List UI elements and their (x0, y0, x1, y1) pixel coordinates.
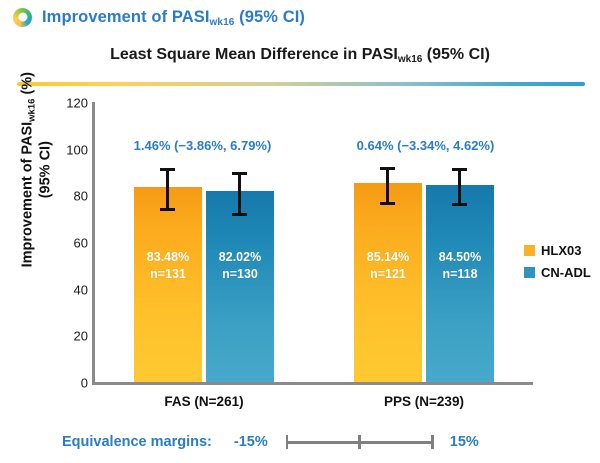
legend-label: HLX03 (541, 243, 581, 258)
bar-hlx03-fas[interactable]: 83.48% n=131 (134, 187, 202, 382)
legend-item-hlx03[interactable]: HLX03 (524, 239, 591, 261)
y-tick-label: 100 (54, 143, 88, 158)
equivalence-margin-low: -15% (234, 434, 268, 450)
bar-hlx03-pps[interactable]: 85.14% n=121 (354, 183, 422, 382)
bar-value-label: 84.50% (439, 250, 481, 264)
errorbar-hlx03-fas (166, 168, 169, 211)
bar-n-label: n=118 (442, 267, 477, 281)
y-axis-title: Improvement of PASIwk16 (%) (95% CI) (19, 45, 54, 295)
legend-item-cnadl[interactable]: CN-ADL (524, 261, 591, 283)
y-axis-title-line2: (95% CI) (37, 141, 53, 198)
y-axis-title-main: Improvement of PASI (19, 122, 35, 268)
y-tick-label: 0 (54, 376, 88, 391)
chart-legend: HLX03 CN-ADL (524, 239, 591, 283)
group-annotation-fas: 1.46% (−3.86%, 6.79%) (95, 138, 310, 153)
errorbar-hlx03-pps (386, 167, 389, 205)
bar-n-label: n=130 (222, 267, 258, 281)
bar-value-label: 83.48% (147, 250, 189, 264)
y-tick-label: 80 (54, 189, 88, 204)
scale-tick-center (358, 435, 361, 449)
bar-n-label: n=131 (150, 267, 186, 281)
errorbar-cnadl-pps (458, 168, 461, 206)
legend-swatch-icon (524, 245, 535, 256)
legend-label: CN-ADL (541, 265, 591, 280)
legend-swatch-icon (524, 267, 535, 278)
scale-tick-right (431, 435, 434, 449)
bar-cnadl-fas[interactable]: 82.02% n=130 (206, 191, 274, 382)
x-tick-label-pps: PPS (N=239) (354, 394, 494, 409)
bar-value-label: 85.14% (367, 250, 409, 264)
y-tick-label: 60 (54, 236, 88, 251)
x-tick-label-fas: FAS (N=261) (134, 394, 274, 409)
y-axis-title-tail: (%) (19, 72, 35, 99)
equivalence-margins-label: Equivalence margins: (62, 434, 212, 450)
scale-tick-left (286, 435, 289, 449)
y-tick-label: 120 (54, 96, 88, 111)
bar-cnadl-pps[interactable]: 84.50% n=118 (426, 185, 494, 382)
equivalence-margin-high: 15% (450, 434, 479, 450)
bar-chart-plot: 0 20 40 60 80 100 120 Improvement of PAS… (0, 0, 600, 463)
y-axis-title-subscript: wk16 (26, 99, 37, 122)
y-tick-label: 40 (54, 283, 88, 298)
bar-n-label: n=121 (370, 267, 406, 281)
group-annotation-pps: 0.64% (−3.34%, 4.62%) (318, 138, 533, 153)
equivalence-margins-row: Equivalence margins: -15% 15% (0, 428, 600, 456)
x-axis-line (92, 382, 533, 385)
bar-value-label: 82.02% (219, 250, 261, 264)
equivalence-margin-scale (286, 433, 434, 451)
errorbar-cnadl-fas (238, 172, 241, 216)
y-tick-label: 20 (54, 329, 88, 344)
